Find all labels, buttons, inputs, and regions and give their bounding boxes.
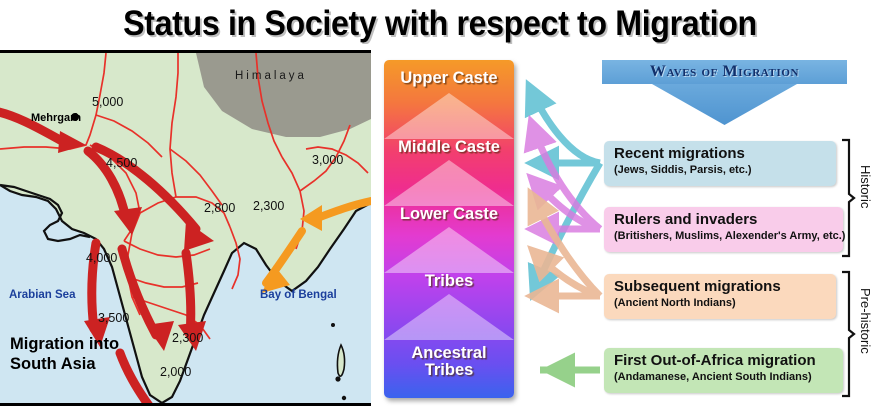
map-sea-arabian: Arabian Sea (9, 289, 75, 301)
map-year-5000: 5,000 (92, 95, 123, 109)
pyramid-chevron-4 (384, 294, 514, 340)
map-caption: Migration into South Asia (10, 334, 119, 374)
migration-box-recent[interactable]: Recent migrations (Jews, Siddis, Parsis,… (604, 141, 836, 186)
migration-box-rulers[interactable]: Rulers and invaders (Britishers, Muslims… (604, 207, 843, 252)
migration-box-subsequent-subtitle: (Ancient North Indians) (614, 297, 836, 310)
migration-box-recent-title: Recent migrations (614, 146, 836, 163)
pyramid-level-ancestral-tribes[interactable]: Ancestral Tribes (384, 339, 514, 385)
migration-box-ooa-title: First Out-of-Africa migration (614, 353, 843, 370)
migration-box-rulers-title: Rulers and invaders (614, 212, 843, 229)
pyramid-chevron-3 (384, 227, 514, 273)
migration-box-ooa-subtitle: (Andamanese, Ancient South Indians) (614, 371, 843, 384)
map-year-2300a: 2,300 (253, 199, 284, 213)
banner-arrow-down-icon (652, 84, 797, 125)
migration-map-panel: Himalaya Mehrgarh 5,000 4,500 2,800 3,00… (0, 50, 371, 406)
page-title: Status in Society with respect to Migrat… (35, 0, 845, 48)
migration-box-ooa[interactable]: First Out-of-Africa migration (Andamanes… (604, 348, 843, 393)
migration-box-rulers-subtitle: (Britishers, Muslims, Alexender's Army, … (614, 230, 843, 243)
bracket-historic-icon (840, 138, 856, 258)
map-year-4000: 4,000 (86, 251, 117, 265)
era-label-prehistoric: Pre-historic (858, 288, 873, 354)
map-year-2000: 2,000 (160, 365, 191, 379)
waves-of-migration-banner: Waves of Migration (602, 60, 847, 84)
pyramid-level-upper-caste[interactable]: Upper Caste (384, 66, 514, 92)
map-caption-line1: Migration into (10, 334, 119, 354)
caste-pyramid: Upper Caste Middle Caste Lower Caste Tri… (384, 60, 514, 398)
map-year-3000: 3,000 (312, 153, 343, 167)
map-caption-line2: South Asia (10, 354, 119, 374)
bracket-prehistoric-icon (840, 270, 856, 398)
pyramid-level-ancestral-line1: Ancestral (411, 345, 486, 362)
map-year-2800: 2,800 (204, 201, 235, 215)
map-region-label: Himalaya (235, 70, 307, 82)
pyramid-level-middle-caste[interactable]: Middle Caste (384, 135, 514, 161)
pyramid-level-tribes[interactable]: Tribes (384, 269, 514, 295)
pyramid-level-ancestral-line2: Tribes (425, 362, 474, 379)
migration-box-subsequent[interactable]: Subsequent migrations (Ancient North Ind… (604, 274, 836, 319)
map-site-dot (71, 113, 79, 121)
migration-box-subsequent-title: Subsequent migrations (614, 279, 836, 296)
pyramid-level-lower-caste[interactable]: Lower Caste (384, 202, 514, 228)
infographic-root: Status in Society with respect to Migrat… (0, 0, 880, 406)
pyramid-chevron-2 (384, 160, 514, 206)
era-label-historic: Historic (858, 165, 873, 208)
map-year-4500: 4,500 (106, 156, 137, 170)
map-sea-bengal: Bay of Bengal (260, 289, 337, 301)
map-year-3500: 3,500 (98, 311, 129, 325)
migration-box-recent-subtitle: (Jews, Siddis, Parsis, etc.) (614, 164, 836, 177)
pyramid-chevron-1 (384, 93, 514, 139)
map-year-2300b: 2,300 (172, 331, 203, 345)
